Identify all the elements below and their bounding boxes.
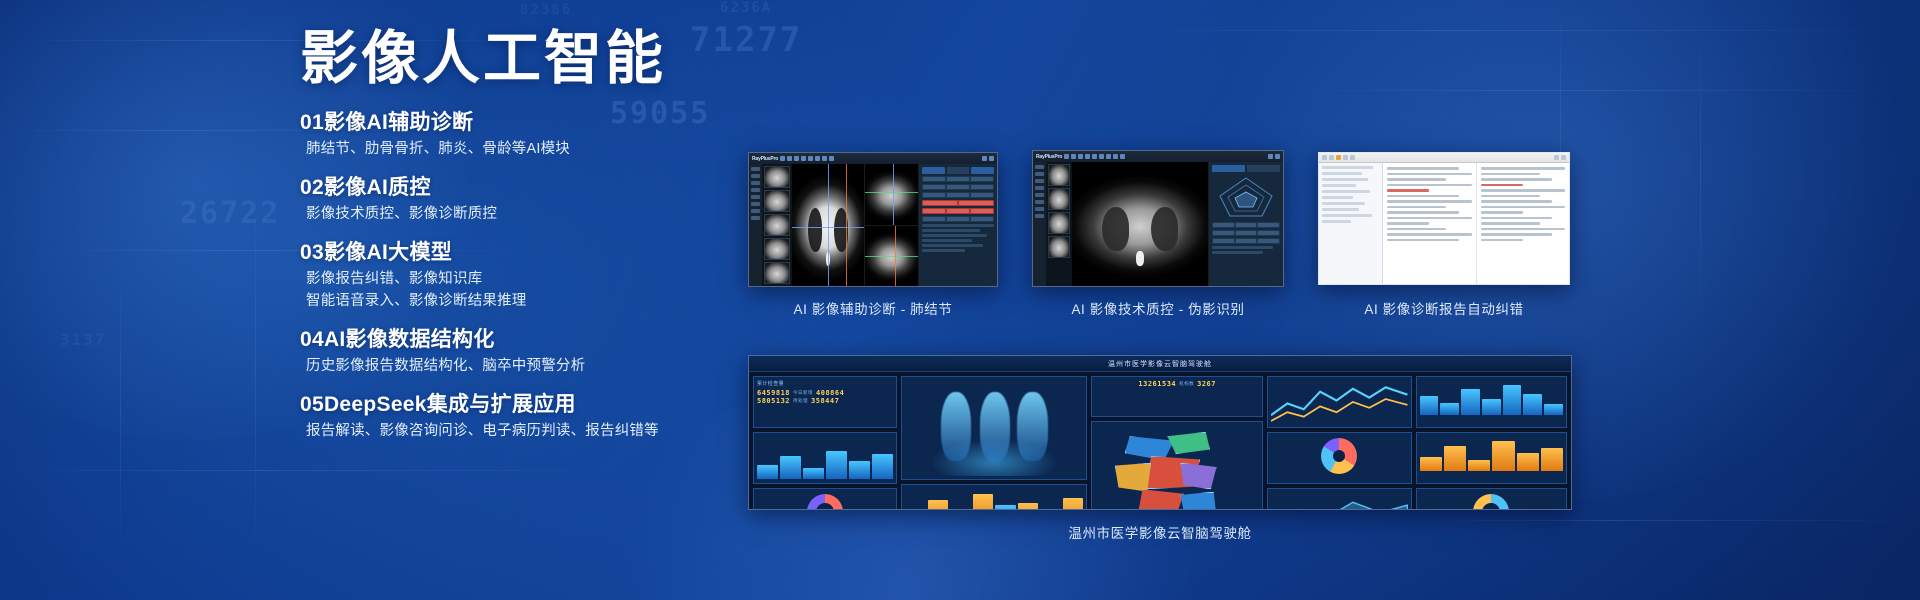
feature-title: 03影像AI大模型 bbox=[300, 239, 720, 267]
toolbar-icon-highlight[interactable] bbox=[1336, 155, 1341, 160]
series-thumbnail[interactable] bbox=[764, 190, 790, 212]
toolbar-icon[interactable] bbox=[808, 156, 813, 161]
card-bar-chart-mid[interactable] bbox=[901, 484, 1087, 510]
finding-row-alert[interactable] bbox=[922, 200, 994, 206]
settings-icon[interactable] bbox=[982, 156, 987, 161]
feature-description: 影像技术质控、影像诊断质控 bbox=[300, 204, 720, 226]
image-viewport[interactable] bbox=[1072, 162, 1209, 286]
toolbar-icon[interactable] bbox=[829, 156, 834, 161]
feature-title: 05DeepSeek集成与扩展应用 bbox=[300, 391, 720, 419]
toolbar-icon[interactable] bbox=[1092, 154, 1097, 159]
panel-tab-button[interactable] bbox=[922, 167, 945, 174]
series-thumbnail[interactable] bbox=[1048, 188, 1070, 210]
screenshot-panel-dashboard[interactable]: 温州市医学影像云智脑驾驶舱 累计检查量 6459818 今日新增 408864 … bbox=[748, 355, 1572, 510]
document-panes bbox=[1383, 163, 1569, 284]
kpi-value: 13261534 bbox=[1138, 380, 1176, 388]
toolbar-icon[interactable] bbox=[780, 156, 785, 161]
left-toolrail[interactable] bbox=[749, 164, 762, 286]
card-kpi-total[interactable]: 13261534 机构数 3267 bbox=[1091, 376, 1263, 417]
panel-tab-button[interactable] bbox=[1247, 165, 1280, 172]
card-kpi-summary[interactable]: 累计检查量 6459818 今日新增 408864 5805132 待处理 35… bbox=[753, 376, 897, 428]
close-icon[interactable] bbox=[989, 156, 994, 161]
kpi-value: 5805132 bbox=[757, 397, 790, 405]
series-thumbnail-list[interactable] bbox=[762, 164, 792, 286]
feature-desc-line: 历史影像报告数据结构化、脑卒中预警分析 bbox=[306, 356, 720, 378]
card-bar-chart-right-1[interactable] bbox=[1416, 376, 1567, 428]
document-body bbox=[1319, 163, 1569, 284]
series-thumbnail-list[interactable] bbox=[1046, 162, 1072, 286]
kpi-label: 机构数 bbox=[1179, 381, 1194, 387]
dashboard-column-2 bbox=[901, 376, 1087, 510]
human-body-visual bbox=[905, 380, 1083, 476]
finding-row[interactable] bbox=[922, 184, 994, 190]
app-titlebar: RayPlusPro bbox=[1033, 151, 1283, 162]
toolbar-icon[interactable] bbox=[801, 156, 806, 161]
toolbar-icon[interactable] bbox=[1064, 154, 1069, 159]
finding-row[interactable] bbox=[922, 216, 994, 222]
area-chart bbox=[1271, 492, 1407, 510]
feature-description: 肺结节、肋骨骨折、肺炎、骨龄等AI模块 bbox=[300, 139, 720, 161]
screenshot-panel-report-correction[interactable] bbox=[1318, 152, 1570, 285]
image-viewport[interactable] bbox=[792, 164, 919, 286]
radar-chart bbox=[1212, 174, 1280, 220]
ct-sagittal-view[interactable] bbox=[865, 164, 919, 226]
feature-desc-line: 影像技术质控、影像诊断质控 bbox=[306, 204, 720, 226]
dashboard-column-1: 累计检查量 6459818 今日新增 408864 5805132 待处理 35… bbox=[753, 376, 897, 510]
ct-coronal-view[interactable] bbox=[865, 226, 919, 287]
dashboard-column-5 bbox=[1416, 376, 1567, 510]
toolbar-icon[interactable] bbox=[815, 156, 820, 161]
bar-chart bbox=[757, 444, 893, 479]
series-thumbnail[interactable] bbox=[764, 166, 790, 188]
kpi-value: 408864 bbox=[816, 389, 844, 397]
banner-root: 71277 59055 26722 6236A 82386 3137 影像人工智… bbox=[0, 0, 1920, 600]
toolbar-icon[interactable] bbox=[1120, 154, 1125, 159]
toolbar-icon[interactable] bbox=[1106, 154, 1111, 159]
series-thumbnail[interactable] bbox=[1048, 212, 1070, 234]
radar-chart-svg bbox=[1215, 174, 1277, 220]
toolbar-icon[interactable] bbox=[794, 156, 799, 161]
card-bar-chart-right-2[interactable] bbox=[1416, 432, 1567, 484]
bar-chart bbox=[1420, 436, 1563, 471]
panel-tab-button[interactable] bbox=[947, 167, 970, 174]
report-corrected-pane[interactable] bbox=[1477, 163, 1570, 284]
feature-desc-line: 肺结节、肋骨骨折、肺炎、骨龄等AI模块 bbox=[306, 139, 720, 161]
series-thumbnail[interactable] bbox=[764, 238, 790, 260]
bg-number: 3137 bbox=[60, 330, 107, 349]
settings-icon[interactable] bbox=[1268, 154, 1273, 159]
bar-chart bbox=[1420, 380, 1563, 415]
series-thumbnail[interactable] bbox=[1048, 236, 1070, 258]
toolbar-icon[interactable] bbox=[1071, 154, 1076, 159]
feature-item-05[interactable]: 05DeepSeek集成与扩展应用 报告解读、影像咨询问诊、电子病历判读、报告纠… bbox=[300, 391, 720, 443]
qc-metric-row[interactable] bbox=[1212, 230, 1280, 236]
feature-desc-line: 报告解读、影像咨询问诊、电子病历判读、报告纠错等 bbox=[306, 421, 720, 443]
bg-number: 82386 bbox=[520, 2, 572, 18]
app-titlebar: RayPlusPro bbox=[749, 153, 997, 164]
kpi-value: 6459818 bbox=[757, 389, 790, 397]
document-sidebar-tree[interactable] bbox=[1319, 163, 1383, 284]
series-thumbnail[interactable] bbox=[764, 262, 790, 284]
toolbar-icon[interactable] bbox=[1113, 154, 1118, 159]
bar-chart bbox=[905, 488, 1083, 510]
panel-tab-button[interactable] bbox=[971, 167, 994, 174]
kpi-value-row: 6459818 今日新增 408864 bbox=[757, 389, 893, 397]
finding-row-alert[interactable] bbox=[922, 208, 994, 214]
page-title: 影像人工智能 bbox=[300, 28, 720, 91]
toolbar-icon[interactable] bbox=[822, 156, 827, 161]
app-logo: RayPlusPro bbox=[1036, 154, 1062, 160]
toolbar-icon[interactable] bbox=[787, 156, 792, 161]
toolbar-icon[interactable] bbox=[1099, 154, 1104, 159]
toolbar-icon[interactable] bbox=[1343, 155, 1348, 160]
panel-tab-button[interactable] bbox=[1212, 165, 1245, 172]
feature-title: 04AI影像数据结构化 bbox=[300, 326, 720, 354]
toolbar-icon[interactable] bbox=[1350, 155, 1355, 160]
card-area-chart[interactable] bbox=[1267, 488, 1411, 510]
toolbar-icon[interactable] bbox=[1561, 155, 1566, 160]
kpi-label: 待处理 bbox=[793, 398, 808, 404]
ct-axial-artifact-view[interactable] bbox=[1072, 162, 1209, 286]
feature-description: 历史影像报告数据结构化、脑卒中预警分析 bbox=[300, 356, 720, 378]
feature-description: 影像报告纠错、影像知识库 智能语音录入、影像诊断结果推理 bbox=[300, 269, 720, 313]
kpi-value-row: 5805132 待处理 358447 bbox=[757, 397, 893, 405]
kpi-value: 358447 bbox=[811, 397, 839, 405]
feature-title: 01影像AI辅助诊断 bbox=[300, 109, 720, 137]
feature-desc-line: 智能语音录入、影像诊断结果推理 bbox=[306, 291, 720, 313]
feature-item-01[interactable]: 01影像AI辅助诊断 肺结节、肋骨骨折、肺炎、骨龄等AI模块 bbox=[300, 109, 720, 161]
qc-metric-row[interactable] bbox=[1212, 222, 1280, 228]
card-region-map[interactable] bbox=[1091, 421, 1263, 510]
toolbar-icon[interactable] bbox=[1078, 154, 1083, 159]
card-donut-right[interactable] bbox=[1416, 488, 1567, 510]
dashboard-column-4 bbox=[1267, 376, 1411, 510]
toolbar-icon[interactable] bbox=[1085, 154, 1090, 159]
donut-chart bbox=[1473, 494, 1509, 510]
series-thumbnail[interactable] bbox=[764, 214, 790, 236]
donut-chart bbox=[807, 494, 843, 510]
pie-chart bbox=[1321, 438, 1357, 474]
card-pie-chart[interactable] bbox=[1267, 432, 1411, 484]
ct-axial-view[interactable] bbox=[792, 164, 865, 286]
finding-row[interactable] bbox=[922, 176, 994, 182]
dashboard-grid: 累计检查量 6459818 今日新增 408864 5805132 待处理 35… bbox=[749, 372, 1571, 509]
dashboard-column-3: 13261534 机构数 3267 bbox=[1091, 376, 1263, 510]
quality-score-panel[interactable] bbox=[1209, 162, 1283, 286]
kpi-value-row: 13261534 机构数 3267 bbox=[1095, 380, 1259, 388]
card-bar-chart-left[interactable] bbox=[753, 432, 897, 484]
feature-item-03[interactable]: 03影像AI大模型 影像报告纠错、影像知识库 智能语音录入、影像诊断结果推理 bbox=[300, 239, 720, 313]
document-toolbar[interactable] bbox=[1319, 153, 1569, 163]
card-human-model[interactable] bbox=[901, 376, 1087, 480]
screenshot-caption-3: AI 影像诊断报告自动纠错 bbox=[1318, 298, 1570, 318]
screenshot-panel-quality-control[interactable]: RayPlusPro bbox=[1032, 150, 1284, 287]
bg-number: 6236A bbox=[720, 0, 772, 16]
app-logo: RayPlusPro bbox=[752, 156, 778, 162]
findings-panel[interactable] bbox=[919, 164, 997, 286]
card-title bbox=[757, 436, 893, 442]
card-title: 累计检查量 bbox=[757, 380, 893, 387]
toolbar-icon[interactable] bbox=[1322, 155, 1327, 160]
dashboard-header-title: 温州市医学影像云智脑驾驶舱 bbox=[749, 356, 1571, 372]
screenshot-caption-2: AI 影像技术质控 - 伪影识别 bbox=[1032, 298, 1284, 318]
series-thumbnail[interactable] bbox=[1048, 164, 1070, 186]
kpi-value: 3267 bbox=[1197, 380, 1216, 388]
kpi-label: 今日新增 bbox=[793, 390, 813, 396]
feature-item-04[interactable]: 04AI影像数据结构化 历史影像报告数据结构化、脑卒中预警分析 bbox=[300, 326, 720, 378]
card-donut-left[interactable] bbox=[753, 488, 897, 510]
dashboard-caption: 温州市医学影像云智脑驾驶舱 bbox=[748, 522, 1572, 542]
feature-description: 报告解读、影像咨询问诊、电子病历判读、报告纠错等 bbox=[300, 421, 720, 443]
report-original-pane[interactable] bbox=[1383, 163, 1477, 284]
screenshot-caption-1: AI 影像辅助诊断 - 肺结节 bbox=[748, 298, 998, 318]
feature-desc-line: 影像报告纠错、影像知识库 bbox=[306, 269, 720, 291]
line-chart bbox=[1271, 380, 1407, 424]
app-body bbox=[749, 164, 997, 286]
left-toolrail[interactable] bbox=[1033, 162, 1046, 286]
app-body bbox=[1033, 162, 1283, 286]
screenshot-panel-ai-diagnosis[interactable]: RayPlusPro bbox=[748, 152, 998, 287]
feature-list: 01影像AI辅助诊断 肺结节、肋骨骨折、肺炎、骨龄等AI模块 02影像AI质控 … bbox=[300, 109, 720, 443]
feature-title: 02影像AI质控 bbox=[300, 174, 720, 202]
toolbar-icon[interactable] bbox=[1554, 155, 1559, 160]
qc-metric-row[interactable] bbox=[1212, 238, 1280, 244]
finding-row[interactable] bbox=[922, 192, 994, 198]
choropleth-map bbox=[1095, 425, 1259, 510]
feature-item-02[interactable]: 02影像AI质控 影像技术质控、影像诊断质控 bbox=[300, 174, 720, 226]
bg-number: 26722 bbox=[180, 196, 280, 231]
close-icon[interactable] bbox=[1275, 154, 1280, 159]
left-content-column: 影像人工智能 01影像AI辅助诊断 肺结节、肋骨骨折、肺炎、骨龄等AI模块 02… bbox=[300, 28, 720, 456]
toolbar-icon[interactable] bbox=[1329, 155, 1334, 160]
card-line-chart[interactable] bbox=[1267, 376, 1411, 428]
